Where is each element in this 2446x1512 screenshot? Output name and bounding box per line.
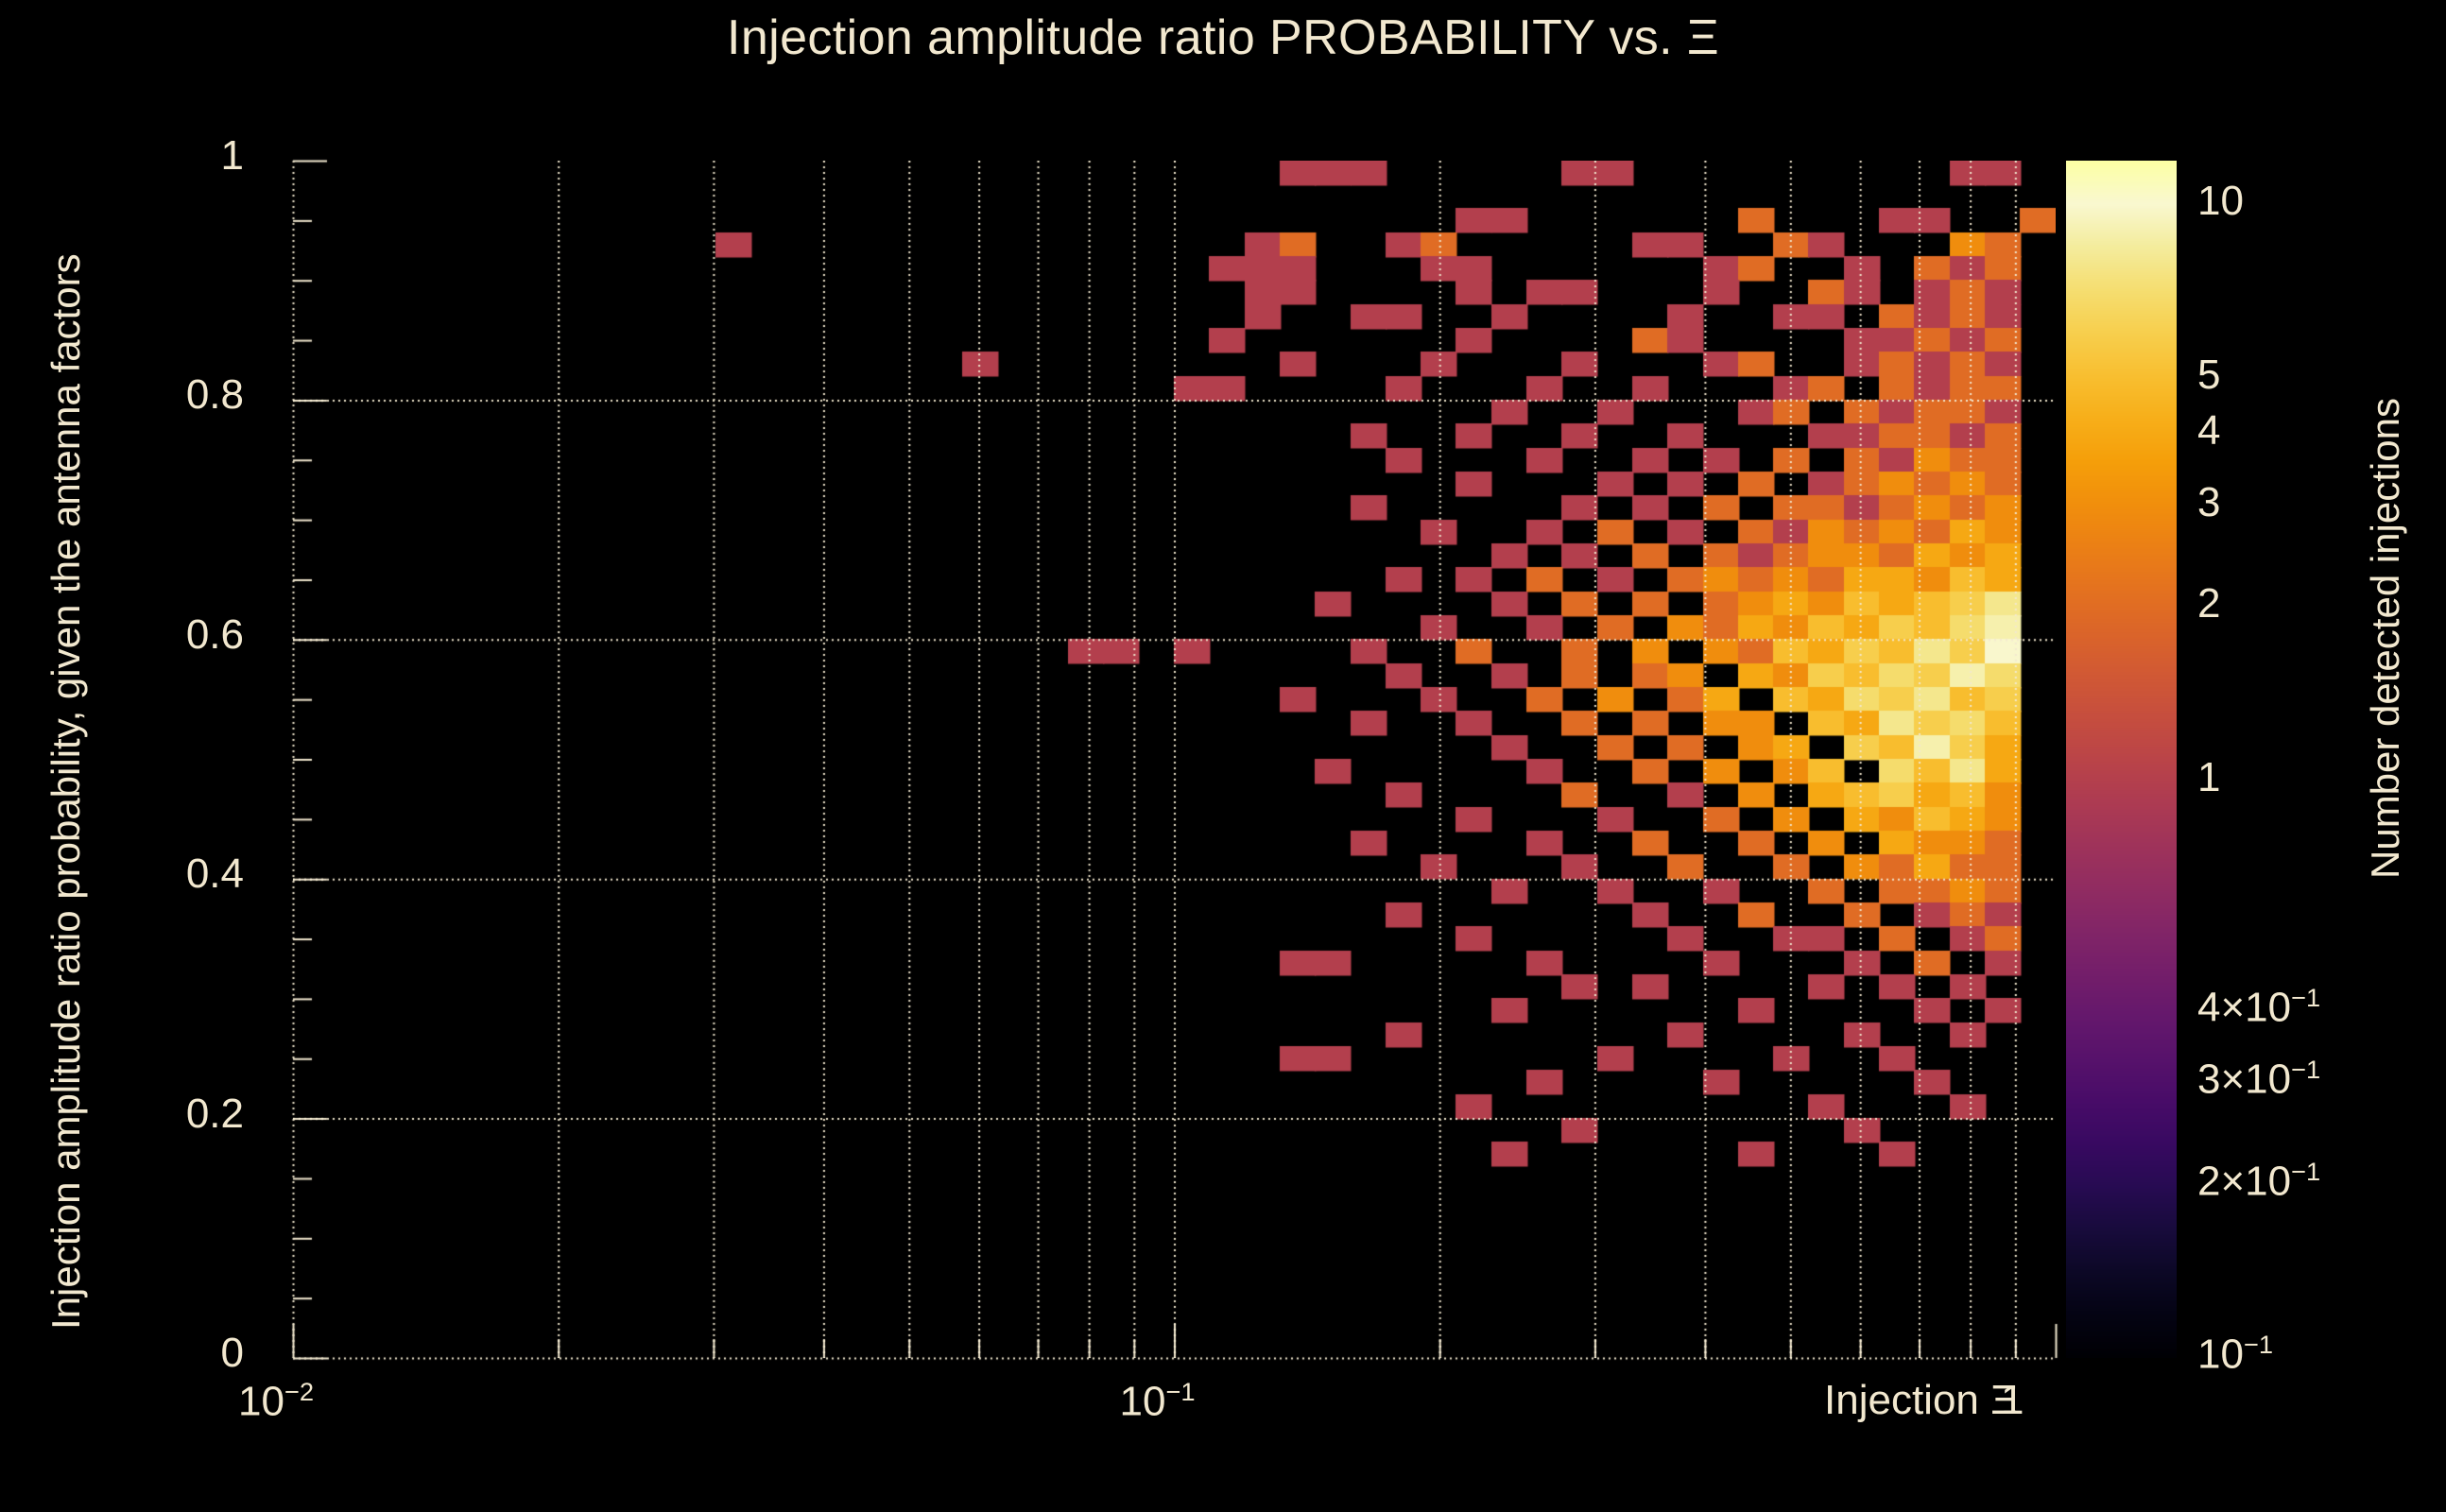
- y-tick-label-1: 0.2: [0, 1091, 244, 1138]
- y-tick-label-5: 1: [0, 132, 244, 180]
- y-tick-label-0: 0: [0, 1330, 244, 1377]
- colorbar-tick-label-7: 4: [2197, 407, 2220, 455]
- heatmap-cells: [293, 161, 2056, 1358]
- colorbar-tick-label-6: 3: [2197, 479, 2220, 526]
- x-axis-title: Injection Ξ: [1824, 1377, 2018, 1424]
- colorbar-tick-label-5: 2: [2197, 580, 2220, 627]
- colorbar-tick-label-3: 4×10−1: [2197, 983, 2320, 1032]
- colorbar-gradient: [2066, 161, 2177, 1358]
- colorbar-title: Number detected injections: [2363, 398, 2408, 879]
- y-axis-title: Injection amplitude ratio probability, g…: [43, 253, 89, 1330]
- colorbar-tick-label-2: 3×10−1: [2197, 1055, 2320, 1104]
- y-tick-label-2: 0.4: [0, 850, 244, 898]
- colorbar-tick-label-8: 5: [2197, 352, 2220, 399]
- chart-title: Injection amplitude ratio PROBABILITY vs…: [0, 9, 2446, 66]
- colorbar-tick-label-9: 10: [2197, 178, 2244, 225]
- colorbar-tick-label-4: 1: [2197, 754, 2220, 801]
- y-tick-label-3: 0.6: [0, 611, 244, 659]
- colorbar-tick-label-0: 10−1: [2197, 1330, 2273, 1379]
- heatmap-plot-area: [293, 161, 2056, 1358]
- colorbar-tick-label-1: 2×10−1: [2197, 1157, 2320, 1206]
- x-tick-label-1: 10−1: [1120, 1377, 1196, 1426]
- y-tick-label-4: 0.8: [0, 371, 244, 419]
- x-tick-label-0: 10−2: [238, 1377, 314, 1426]
